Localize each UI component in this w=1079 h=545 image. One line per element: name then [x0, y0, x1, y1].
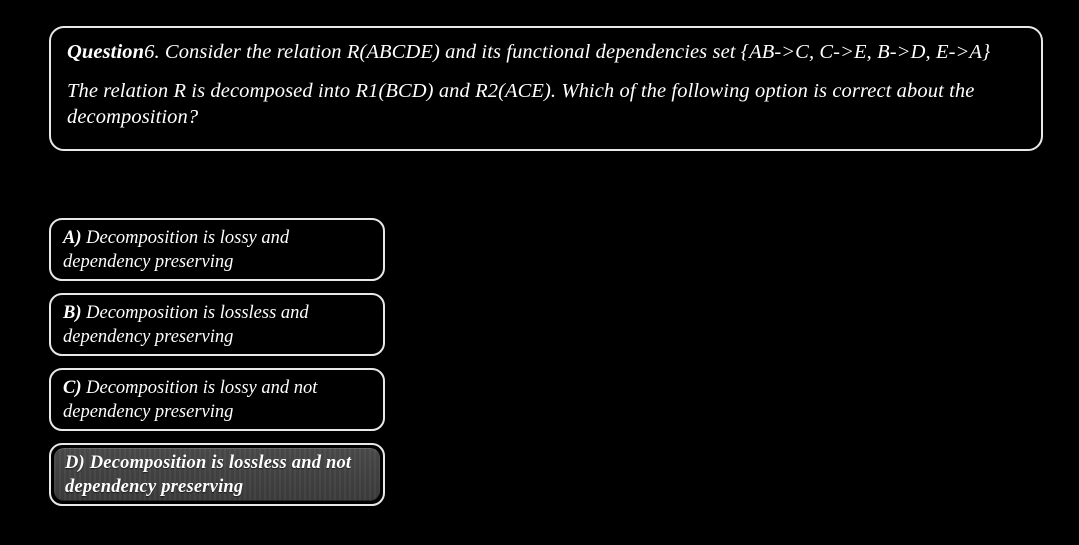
- question-number: 6.: [144, 41, 160, 63]
- answer-options-list: A) Decomposition is lossy and dependency…: [49, 218, 385, 518]
- question-number-and-body: 6. Consider the relation R(ABCDE) and it…: [144, 41, 990, 63]
- option-a-text: A) Decomposition is lossy and dependency…: [63, 228, 294, 272]
- option-b-label: Decomposition is lossless and dependency…: [63, 303, 313, 347]
- question-label: Question: [67, 41, 144, 63]
- question-statement: Question6. Consider the relation R(ABCDE…: [67, 39, 1027, 66]
- option-b-text: B) Decomposition is lossless and depende…: [63, 303, 313, 347]
- option-d[interactable]: D) Decomposition is lossless and not dep…: [49, 443, 385, 506]
- option-a-label: Decomposition is lossy and dependency pr…: [63, 228, 294, 272]
- question-body: Consider the relation R(ABCDE) and its f…: [160, 41, 991, 63]
- option-c-label: Decomposition is lossy and not dependenc…: [63, 378, 322, 422]
- option-a[interactable]: A) Decomposition is lossy and dependency…: [49, 218, 385, 281]
- option-b-letter: B): [63, 303, 82, 323]
- option-d-letter: D): [65, 453, 85, 473]
- option-d-text: D) Decomposition is lossless and not dep…: [65, 453, 356, 497]
- option-c-text: C) Decomposition is lossy and not depend…: [63, 378, 322, 422]
- question-prompt: The relation R is decomposed into R1(BCD…: [67, 78, 1027, 131]
- question-card: Question6. Consider the relation R(ABCDE…: [49, 26, 1043, 151]
- option-c[interactable]: C) Decomposition is lossy and not depend…: [49, 368, 385, 431]
- option-d-label: Decomposition is lossless and not depend…: [65, 453, 356, 497]
- option-b[interactable]: B) Decomposition is lossless and depende…: [49, 293, 385, 356]
- option-c-letter: C): [63, 378, 82, 398]
- option-a-letter: A): [63, 228, 82, 248]
